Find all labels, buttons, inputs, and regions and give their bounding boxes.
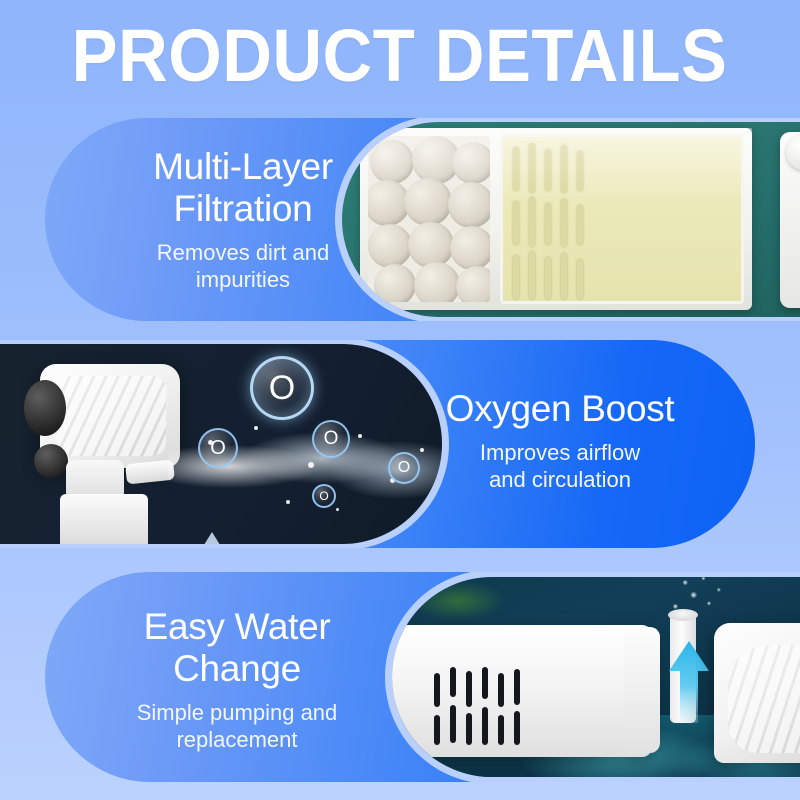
upward-flow-arrow-icon — [668, 639, 710, 723]
card-photo-water-change — [392, 577, 800, 777]
feature-card-easy-water-change[interactable]: Easy Water Change Simple pumping and rep… — [45, 572, 800, 782]
aquarium-plant — [414, 581, 524, 621]
card-title: Easy Water Change — [87, 606, 387, 690]
card-subtitle: Improves airflow and circulation — [405, 439, 715, 493]
oxygen-bubble-icon: O — [312, 484, 336, 508]
card-photo-filtration — [342, 122, 800, 317]
infographic-page: PRODUCT DETAILS Multi-Layer Filtration R… — [0, 0, 800, 800]
water-drip — [196, 532, 228, 544]
suction-cup — [34, 444, 68, 478]
filter-cartridge — [360, 128, 752, 310]
page-title: PRODUCT DETAILS — [72, 19, 728, 93]
card-subtitle: Simple pumping and replacement — [87, 699, 387, 753]
oxygen-bubble-icon: O — [312, 420, 350, 458]
pump-cap — [624, 627, 660, 753]
rising-bubbles — [660, 577, 730, 621]
card-subtitle: Removes dirt and impurities — [93, 239, 393, 293]
motor-fins — [728, 645, 800, 753]
card-title: Multi-Layer Filtration — [93, 146, 393, 230]
card-photo-oxygen: O O O O O — [0, 344, 442, 544]
pump-motor-head — [714, 623, 800, 763]
sponge-media-chamber — [500, 134, 744, 304]
suction-cup — [24, 380, 66, 436]
pump-stand — [60, 494, 148, 544]
oxygen-bubble-label: O — [319, 489, 328, 503]
intake-grille — [434, 667, 520, 747]
card-text-block: Easy Water Change Simple pumping and rep… — [87, 606, 387, 753]
pump-barrel — [392, 625, 652, 757]
card-text-block: Oxygen Boost Improves airflow and circul… — [405, 388, 715, 493]
feature-card-oxygen-boost[interactable]: Oxygen Boost Improves airflow and circul… — [0, 340, 755, 548]
oxygen-bubble-label: O — [269, 369, 295, 408]
page-header: PRODUCT DETAILS — [0, 0, 800, 112]
oxygen-bubble-icon: O — [198, 428, 238, 468]
oxygen-bubble-label: O — [210, 437, 226, 460]
pump-fins — [56, 376, 166, 456]
feature-card-multi-layer-filtration[interactable]: Multi-Layer Filtration Removes dirt and … — [45, 118, 800, 321]
oxygen-bubble-icon: O — [250, 356, 314, 420]
oxygen-bubble-label: O — [324, 428, 339, 450]
card-title: Oxygen Boost — [405, 388, 715, 430]
card-text-block: Multi-Layer Filtration Removes dirt and … — [93, 146, 393, 293]
